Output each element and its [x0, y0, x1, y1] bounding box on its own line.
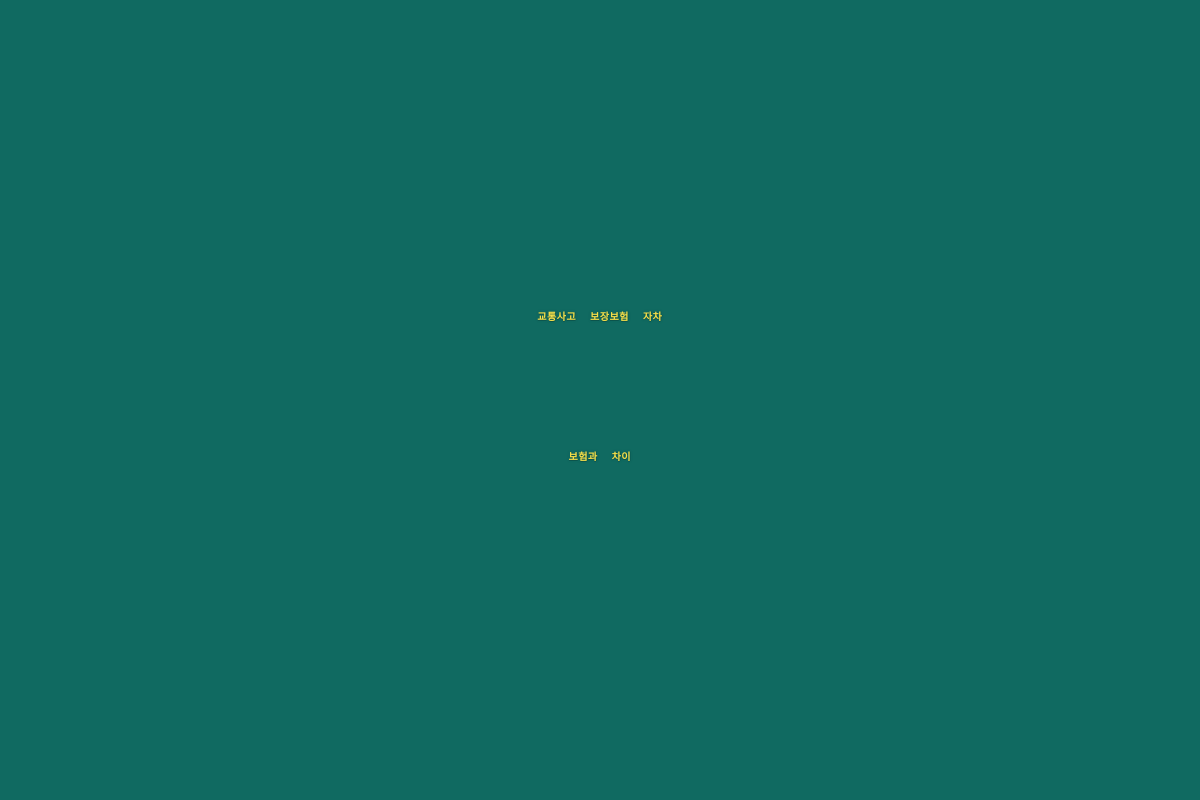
title-line-1: 교통사고 보장보험 자차 [24, 248, 1176, 388]
banner-canvas: 교통사고 보장보험 자차 보험과 차이 [0, 0, 1200, 800]
title-line-2: 보험과 차이 [24, 388, 1176, 528]
title-block: 교통사고 보장보험 자차 보험과 차이 [0, 248, 1200, 528]
